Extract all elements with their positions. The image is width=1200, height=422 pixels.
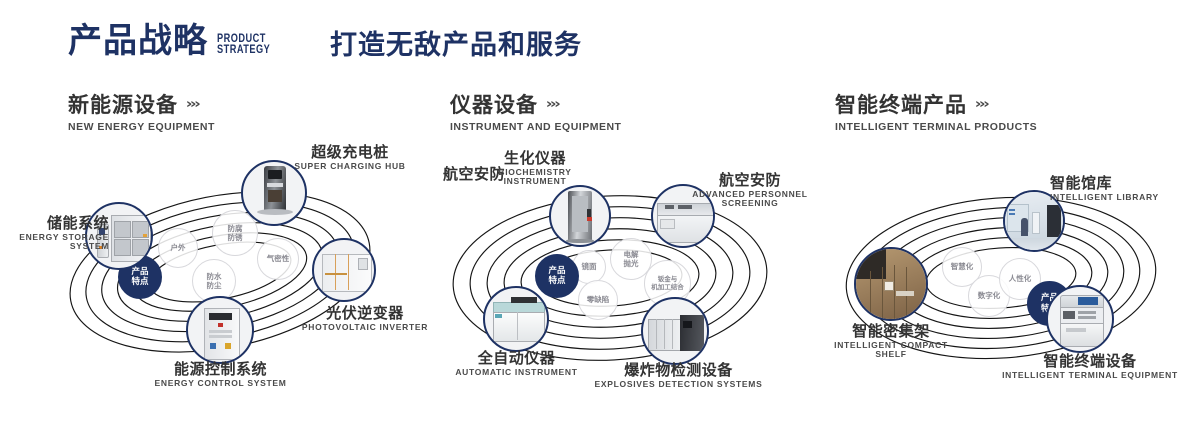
node-label-cn: 智能密集架 [816, 323, 966, 340]
feature-bubble-text: 镜面 [582, 262, 597, 271]
section-heading-new-energy-label: 新能源设备 ››› [68, 94, 215, 116]
feature-bubble-text-2: 机加工结合 [651, 284, 684, 292]
feature-bubble-text: 零缺陷 [587, 295, 610, 304]
section-heading-instrument: 仪器设备 ››› INSTRUMENT AND EQUIPMENT [450, 94, 621, 133]
center-bubble-line1: 产品 [131, 267, 148, 277]
node-label-automatic-instrument: 全自动仪器 AUTOMATIC INSTRUMENT [439, 350, 594, 377]
page-title-english: PRODUCT STRATEGY [217, 34, 270, 56]
diagram-instrument: 镜面 电解 抛光 零缺陷 钣金与 机加工结合 产品 特点 [425, 160, 795, 395]
node-label-en: ADVANCED PERSONNELSCREENING [680, 190, 820, 209]
chevron-right-icon: ››› [186, 98, 199, 112]
diagram-new-energy: 户外 防腐 防锈 防水 防尘 气密性 产品 特点 [40, 160, 400, 390]
node-label-pv-inverter: 光伏逆变器 PHOTOVOLTAIC INVERTER [290, 305, 440, 332]
section-heading-intelligent-label: 智能终端产品 ››› [835, 94, 1037, 116]
node-label-cn: 爆炸物检测设备 [591, 362, 766, 379]
feature-bubble-text: 气密性 [267, 254, 290, 263]
product-photo-energy-control [188, 298, 252, 362]
section-heading-instrument-label: 仪器设备 ››› [450, 94, 621, 116]
node-label-en: INTELLIGENT TERMINAL EQUIPMENT [1000, 371, 1180, 381]
node-label-en: PHOTOVOLTAIC INVERTER [290, 323, 440, 333]
section-heading-intelligent: 智能终端产品 ››› INTELLIGENT TERMINAL PRODUCTS [835, 94, 1037, 133]
center-bubble-line2: 特点 [131, 277, 148, 287]
product-circle-explosives-detection[interactable] [641, 297, 709, 365]
section-heading-instrument-en: INSTRUMENT AND EQUIPMENT [450, 121, 621, 133]
product-circle-compact-shelf[interactable] [854, 247, 928, 321]
product-photo-compact-shelf [856, 249, 926, 319]
section-heading-intelligent-en: INTELLIGENT TERMINAL PRODUCTS [835, 121, 1037, 133]
node-label-terminal-equipment: 智能终端设备 INTELLIGENT TERMINAL EQUIPMENT [1000, 353, 1180, 380]
node-label-cn: 智能终端设备 [1000, 353, 1180, 370]
diagram-intelligent-terminal: 智慧化 数字化 人性化 产品 特点 [818, 165, 1188, 400]
node-label-en: AUTOMATIC INSTRUMENT [439, 368, 594, 378]
chevron-right-icon: ››› [546, 98, 559, 112]
product-photo-biochemistry [551, 187, 609, 245]
product-photo-automatic-instrument [485, 288, 547, 350]
page-title-english-line2: STRATEGY [217, 45, 270, 56]
feature-bubble-text: 人性化 [1009, 274, 1032, 283]
node-label-en: INTELLIGENT LIBRARY [1050, 193, 1200, 203]
node-label-en: ENERGY CONTROL SYSTEM [128, 379, 313, 389]
section-heading-new-energy-cn: 新能源设备 [68, 94, 178, 116]
feature-bubble-text-2: 防锈 [228, 233, 243, 242]
node-label-cn: 全自动仪器 [439, 350, 594, 367]
node-label-energy-storage: 储能系统 ENERGY STORAGESYSTEM [3, 215, 109, 252]
feature-bubble-text-2: 抛光 [624, 259, 639, 268]
feature-bubble-text: 防腐 [228, 224, 243, 233]
product-circle-energy-control[interactable] [186, 296, 254, 364]
feature-bubble-text: 防水 [207, 272, 222, 281]
product-photo-explosives-detection [643, 299, 707, 363]
product-circle-terminal-equipment[interactable] [1046, 285, 1114, 353]
section-heading-new-energy-en: NEW ENERGY EQUIPMENT [68, 121, 215, 133]
chevron-right-icon: ››› [975, 98, 988, 112]
feature-bubble-text: 智慧化 [951, 262, 974, 271]
section-heading-instrument-cn: 仪器设备 [450, 94, 538, 116]
feature-bubble-text: 数字化 [978, 291, 1001, 300]
page-header: 产品战略 PRODUCT STRATEGY [68, 24, 284, 58]
node-label-cn: 超级充电桩 [270, 144, 430, 161]
node-label-cn: 航空安防 [680, 172, 820, 189]
node-label-intelligent-library: 智能馆库 INTELLIGENT LIBRARY [1050, 175, 1200, 202]
node-label-biochemistry: 生化仪器 BIOCHEMISTRYINSTRUMENT [455, 150, 615, 187]
node-label-cn: 储能系统 [3, 215, 109, 232]
product-photo-terminal-equipment [1048, 287, 1112, 351]
feature-bubble-text-2: 防尘 [207, 281, 222, 290]
product-photo-pv-inverter [314, 240, 374, 300]
node-label-en: INTELLIGENT COMPACTSHELF [816, 341, 966, 360]
feature-bubble-text: 电解 [624, 250, 639, 259]
product-circle-automatic-instrument[interactable] [483, 286, 549, 352]
section-heading-intelligent-cn: 智能终端产品 [835, 94, 967, 116]
feature-bubble-new-energy-4: 气密性 [257, 238, 299, 280]
product-circle-biochemistry[interactable] [549, 185, 611, 247]
page-title: 产品战略 [68, 24, 208, 58]
product-strategy-infographic: 产品战略 PRODUCT STRATEGY 打造无敌产品和服务 新能源设备 ››… [0, 0, 1200, 422]
product-circle-pv-inverter[interactable] [312, 238, 376, 302]
center-bubble-line2: 特点 [548, 276, 565, 286]
node-label-cn: 智能馆库 [1050, 175, 1200, 192]
node-label-en: ENERGY STORAGESYSTEM [3, 233, 109, 252]
section-heading-new-energy: 新能源设备 ››› NEW ENERGY EQUIPMENT [68, 94, 215, 133]
node-label-cn: 光伏逆变器 [290, 305, 440, 322]
node-label-compact-shelf: 智能密集架 INTELLIGENT COMPACTSHELF [816, 323, 966, 360]
node-label-energy-control: 能源控制系统 ENERGY CONTROL SYSTEM [128, 361, 313, 388]
page-slogan: 打造无敌产品和服务 [330, 32, 582, 59]
node-label-en: EXPLOSIVES DETECTION SYSTEMS [591, 380, 766, 390]
feature-bubble-instrument-3: 零缺陷 [578, 280, 618, 320]
node-label-cn: 生化仪器 [455, 150, 615, 167]
feature-bubble-text: 户外 [171, 243, 186, 252]
node-label-cn: 能源控制系统 [128, 361, 313, 378]
center-bubble-line1: 产品 [548, 266, 565, 276]
node-label-explosives-detection: 爆炸物检测设备 EXPLOSIVES DETECTION SYSTEMS [591, 362, 766, 389]
feature-bubble-new-energy-1: 户外 [158, 228, 198, 268]
node-label-en: BIOCHEMISTRYINSTRUMENT [455, 168, 615, 187]
node-label-personnel-screening: 航空安防 ADVANCED PERSONNELSCREENING [680, 172, 820, 209]
